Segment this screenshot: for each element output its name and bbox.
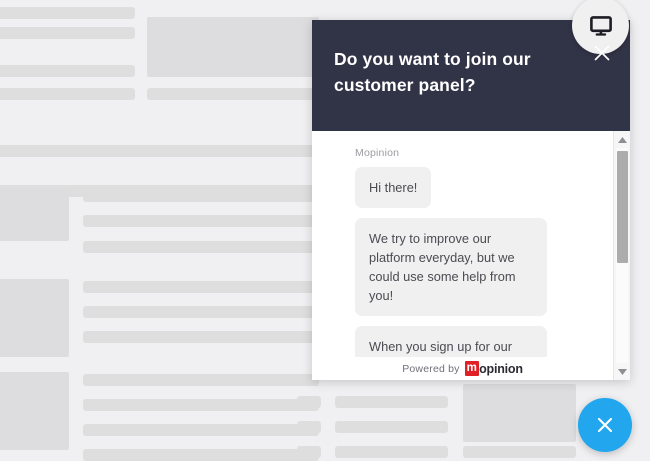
chevron-down-icon[interactable]	[614, 363, 630, 380]
chat-scroll-area[interactable]: Mopinion Hi there! We try to improve our…	[312, 131, 613, 380]
skeleton-line	[0, 145, 319, 157]
monitor-icon	[590, 16, 612, 36]
close-x-icon	[595, 415, 615, 435]
feedback-widget: Do you want to join our customer panel? …	[312, 20, 630, 380]
floating-close-button[interactable]	[578, 398, 632, 452]
close-widget-button[interactable]	[592, 43, 612, 63]
skeleton-line	[297, 446, 321, 458]
skeleton-line	[0, 65, 135, 77]
chat-scrollbar[interactable]	[613, 131, 630, 380]
close-x-icon	[592, 43, 612, 63]
chat-message-bubble: We try to improve our platform everyday,…	[355, 218, 547, 316]
chat-agent-name: Mopinion	[355, 147, 613, 159]
skeleton-line	[83, 424, 319, 436]
skeleton-line	[83, 215, 319, 227]
widget-body: Mopinion Hi there! We try to improve our…	[312, 131, 630, 380]
chevron-up-icon[interactable]	[614, 131, 630, 148]
skeleton-line	[83, 281, 319, 293]
chat-message-bubble: Hi there!	[355, 167, 431, 208]
powered-by-footer: Powered by mopinion	[312, 357, 613, 380]
skeleton-line	[83, 241, 319, 253]
scrollbar-thumb[interactable]	[617, 151, 628, 263]
skeleton-block	[463, 384, 576, 442]
skeleton-block	[0, 372, 69, 450]
skeleton-block	[0, 189, 69, 241]
widget-title: Do you want to join our customer panel?	[334, 46, 570, 98]
skeleton-line	[83, 399, 319, 411]
skeleton-line	[0, 27, 135, 39]
skeleton-block	[0, 279, 69, 357]
skeleton-line	[83, 374, 319, 386]
skeleton-line	[335, 396, 448, 408]
skeleton-line	[463, 446, 576, 458]
mopinion-logo-mark: m	[465, 361, 479, 376]
mopinion-logo-text: opinion	[479, 362, 523, 376]
skeleton-line	[83, 190, 319, 202]
skeleton-line	[83, 306, 319, 318]
skeleton-line	[297, 421, 321, 433]
powered-by-label: Powered by	[402, 363, 459, 375]
skeleton-line	[335, 446, 448, 458]
skeleton-block	[147, 17, 319, 77]
skeleton-line	[147, 88, 319, 100]
skeleton-line	[335, 421, 448, 433]
skeleton-line	[297, 396, 321, 408]
skeleton-line	[0, 88, 135, 100]
skeleton-line	[0, 7, 135, 19]
skeleton-line	[83, 449, 319, 461]
skeleton-line	[83, 331, 319, 343]
